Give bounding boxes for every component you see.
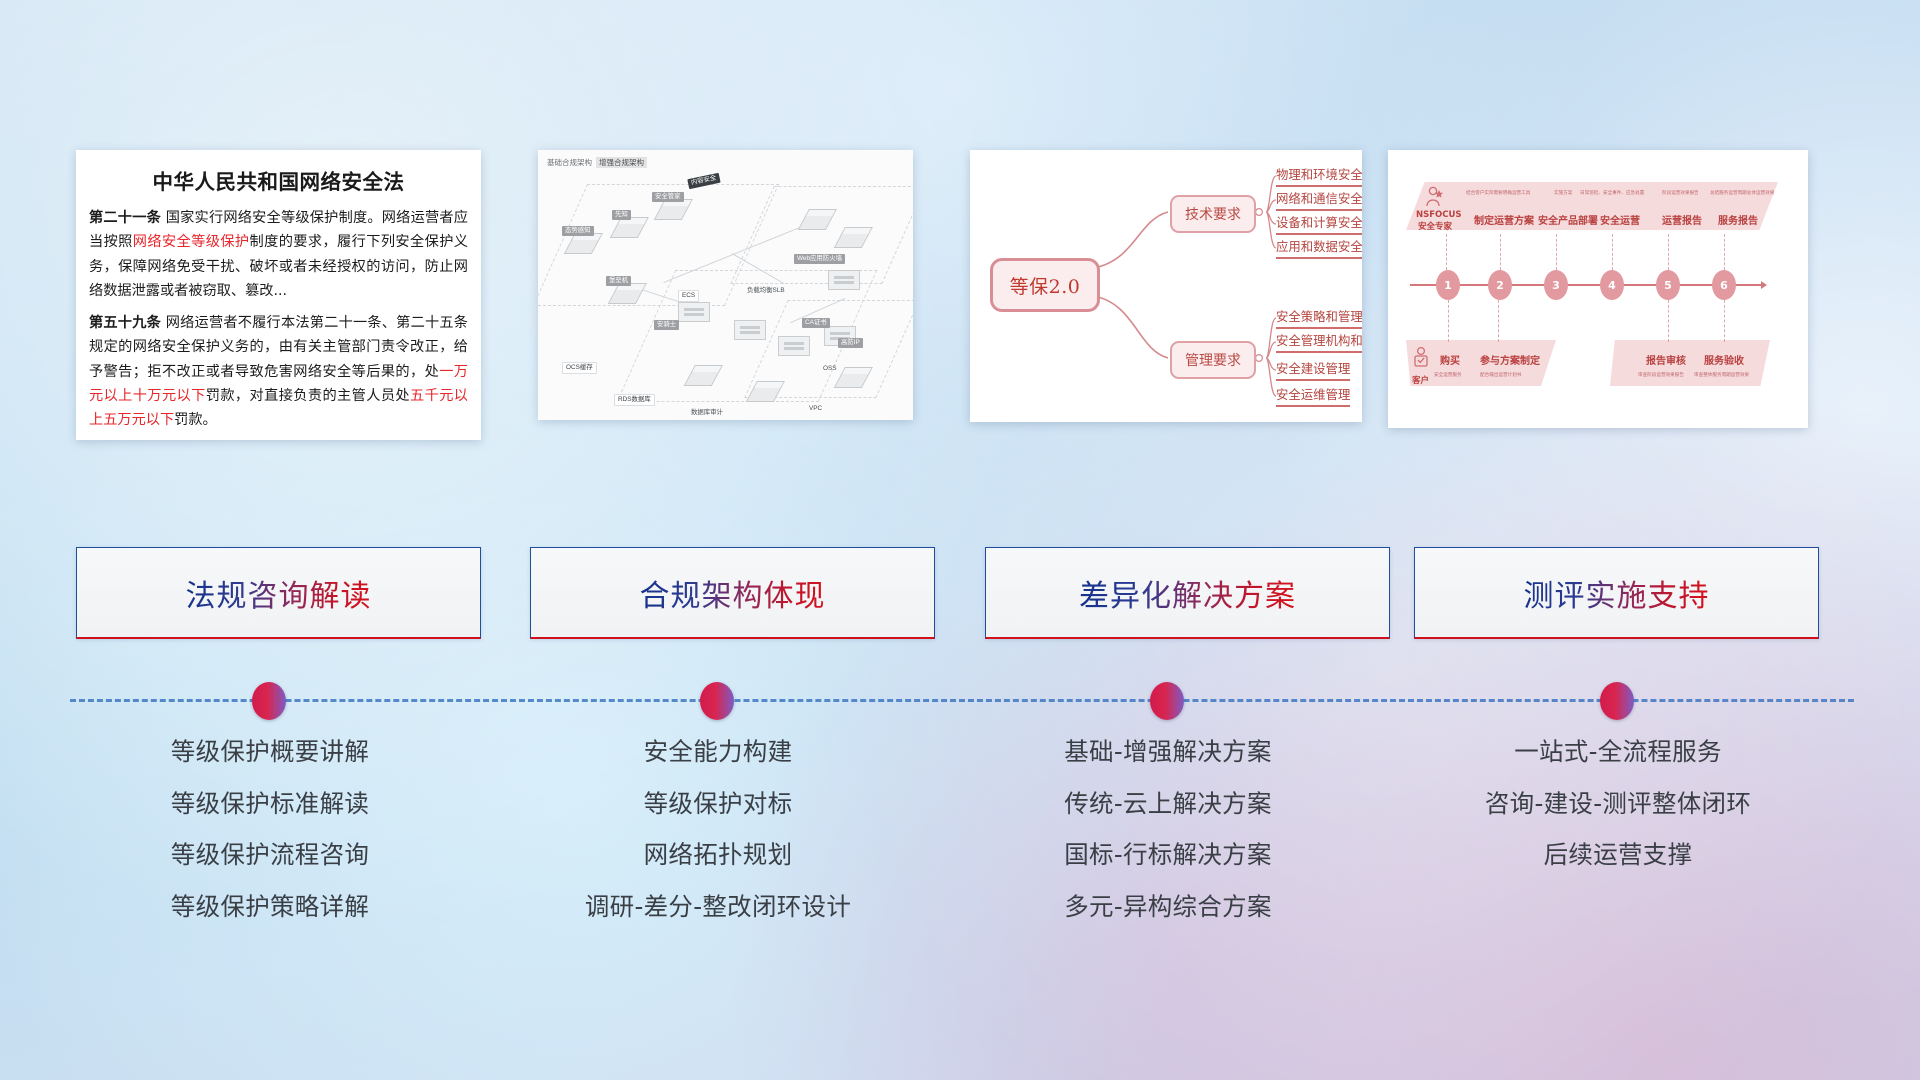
article-21-label: 第二十一条 xyxy=(89,210,161,226)
mindmap-leaf: 安全策略和管理制度 xyxy=(1276,307,1362,329)
timeline-step-4: 4 xyxy=(1600,270,1624,300)
top-step-title: 安全产品部署 xyxy=(1538,212,1598,227)
chip-ocs-cache: OCS缓存 xyxy=(562,362,597,374)
tab-basic-architecture[interactable]: 基础合规架构 xyxy=(547,158,592,167)
timeline-step-1: 1 xyxy=(1436,270,1460,300)
service-timeline: NSFOCUS 安全专家 结合客户实际需要明确运营工具 制定运营方案 实施方案 … xyxy=(1388,150,1808,428)
bottom-step-title: 购买 xyxy=(1440,352,1460,367)
column-compliance-architecture: 安全能力构建 等级保护对标 网络拓扑规划 调研-差分-整改闭环设计 xyxy=(503,740,933,946)
top-step-note: 结合客户实际需要明确运营工具 xyxy=(1466,190,1530,196)
heading-label: 合规架构体现 xyxy=(640,571,826,615)
heading-box-assessment-support[interactable]: 测评实施支持 xyxy=(1414,547,1819,639)
timeline-axis xyxy=(1410,284,1762,286)
mindmap-branch-management: 管理要求 xyxy=(1170,341,1256,379)
chip-situation-awareness: 态势感知 xyxy=(562,226,594,236)
mindmap-leaf: 应用和数据安全 xyxy=(1276,237,1362,259)
node-icon xyxy=(828,270,860,290)
expert-person-icon xyxy=(1424,186,1444,208)
timeline-dash xyxy=(1498,300,1499,342)
card-mindmap-mlps: 等保2.0 技术要求 管理要求 物理和环境安全 网络和通信安全 设备和计算安全 … xyxy=(970,150,1362,422)
chip-slb: 负载均衡SLB xyxy=(744,286,788,296)
heading-row: 法规咨询解读 合规架构体现 差异化解决方案 测评实施支持 xyxy=(0,547,1920,639)
card-compliance-architecture: 基础合规架构增强合规架构 xyxy=(538,150,913,420)
node-icon xyxy=(678,302,710,322)
chip-ecs: ECS xyxy=(678,290,699,302)
list-item: 基础-增强解决方案 xyxy=(953,740,1383,765)
timeline-dash xyxy=(1556,234,1557,270)
chip-anti-ddos-ip: 高防IP xyxy=(838,338,863,348)
expert-label-line1: NSFOCUS xyxy=(1416,210,1462,220)
bottom-step-note: 安全运营服务 xyxy=(1434,372,1462,378)
article-59-label: 第五十九条 xyxy=(89,315,161,331)
timeline-dash xyxy=(1500,234,1501,270)
customer-person-icon xyxy=(1412,346,1430,368)
chip-waf: Web应用防火墙 xyxy=(794,254,845,264)
chip-bastion-host: 堡垒机 xyxy=(606,276,631,286)
chip-foresight: 先知 xyxy=(612,210,631,220)
article-21-highlight: 网络安全等级保护 xyxy=(133,234,250,250)
axis-node-3 xyxy=(1150,682,1184,720)
tab-enhanced-architecture[interactable]: 增强合规架构 xyxy=(596,157,647,168)
law-article-59: 第五十九条 网络运营者不履行本法第二十一条、第二十五条规定的网络安全保护义务的，… xyxy=(89,311,468,433)
top-step-note: 实施方案 xyxy=(1554,190,1572,196)
list-item: 后续运营支撑 xyxy=(1403,843,1833,868)
top-step-title: 制定运营方案 xyxy=(1474,212,1534,227)
heading-label: 测评实施支持 xyxy=(1524,571,1710,615)
node-icon xyxy=(778,336,810,356)
axis-node-1 xyxy=(252,682,286,720)
card-strip: 中华人民共和国网络安全法 第二十一条 国家实行网络安全等级保护制度。网络运营者应… xyxy=(0,150,1920,450)
article-59-text-c: 罚款。 xyxy=(174,412,217,428)
expert-label-line2: 安全专家 xyxy=(1418,220,1452,232)
column-regulation-consulting: 等级保护概要讲解 等级保护标准解读 等级保护流程咨询 等级保护策略详解 xyxy=(55,740,485,946)
bottom-step-title: 服务验收 xyxy=(1704,352,1744,367)
column-assessment-support: 一站式-全流程服务 咨询-建设-测评整体闭环 后续运营支撑 xyxy=(1403,740,1833,895)
timeline-dash xyxy=(1448,300,1449,342)
timeline-step-2: 2 xyxy=(1488,270,1512,300)
heading-box-regulation-consulting[interactable]: 法规咨询解读 xyxy=(76,547,481,639)
law-document: 中华人民共和国网络安全法 第二十一条 国家实行网络安全等级保护制度。网络运营者应… xyxy=(76,150,481,440)
timeline-dash xyxy=(1446,234,1447,270)
list-item: 咨询-建设-测评整体闭环 xyxy=(1403,792,1833,817)
bottom-step-note: 审查整体服务周期运营效果 xyxy=(1694,372,1749,378)
law-title: 中华人民共和国网络安全法 xyxy=(89,165,468,195)
bottom-step-note: 配合输出运营计划书 xyxy=(1480,372,1521,378)
chip-security-housekeeper: 安全管家 xyxy=(652,192,684,202)
top-step-note: 日常巡检、安全事件、应急处置 xyxy=(1580,190,1644,196)
heading-label: 差异化解决方案 xyxy=(1079,571,1296,615)
top-step-title: 运营报告 xyxy=(1662,212,1702,227)
top-step-note: 总结服务运营周期总体运营效果 xyxy=(1710,190,1774,196)
heading-box-compliance-architecture[interactable]: 合规架构体现 xyxy=(530,547,935,639)
bottom-step-note: 审查阶段运营效果报告 xyxy=(1638,372,1684,378)
card-service-timeline: NSFOCUS 安全专家 结合客户实际需要明确运营工具 制定运营方案 实施方案 … xyxy=(1388,150,1808,428)
mindmap: 等保2.0 技术要求 管理要求 物理和环境安全 网络和通信安全 设备和计算安全 … xyxy=(970,150,1362,422)
timeline-dash xyxy=(1724,300,1725,342)
top-step-note: 阶段运营效果报告 xyxy=(1662,190,1699,196)
mindmap-leaf: 安全运维管理 xyxy=(1276,385,1350,407)
timeline-step-6: 6 xyxy=(1712,270,1736,300)
list-item: 调研-差分-整改闭环设计 xyxy=(503,895,933,920)
list-item: 等级保护对标 xyxy=(503,792,933,817)
architecture-tabs: 基础合规架构增强合规架构 xyxy=(547,157,647,168)
timeline-dash xyxy=(1668,300,1669,342)
mindmap-leaf: 安全建设管理 xyxy=(1276,359,1350,381)
list-item: 网络拓扑规划 xyxy=(503,843,933,868)
list-item: 安全能力构建 xyxy=(503,740,933,765)
chip-ca-certificate: CA证书 xyxy=(802,318,830,328)
chip-oss: OSS xyxy=(820,364,840,374)
bottom-step-title: 报告审核 xyxy=(1646,352,1686,367)
timeline-step-5: 5 xyxy=(1656,270,1680,300)
article-59-text-b: 罚款，对直接负责的主管人员处 xyxy=(206,388,410,404)
detail-columns: 等级保护概要讲解 等级保护标准解读 等级保护流程咨询 等级保护策略详解 安全能力… xyxy=(0,740,1920,980)
list-item: 等级保护流程咨询 xyxy=(55,843,485,868)
dashed-axis-line xyxy=(70,699,1854,702)
mindmap-branch-technical: 技术要求 xyxy=(1170,195,1256,233)
heading-label: 法规咨询解读 xyxy=(186,571,372,615)
customer-label: 客户 xyxy=(1412,374,1429,386)
axis-node-4 xyxy=(1600,682,1634,720)
progress-axis-row xyxy=(0,682,1920,722)
mindmap-leaf: 安全管理机构和人员 xyxy=(1276,331,1362,353)
mindmap-root: 等保2.0 xyxy=(990,258,1100,312)
column-differentiated-solution: 基础-增强解决方案 传统-云上解决方案 国标-行标解决方案 多元-异构综合方案 xyxy=(953,740,1383,946)
chip-vpc: VPC xyxy=(806,404,825,414)
heading-box-differentiated-solution[interactable]: 差异化解决方案 xyxy=(985,547,1390,639)
mindmap-leaf: 设备和计算安全 xyxy=(1276,213,1362,235)
list-item: 传统-云上解决方案 xyxy=(953,792,1383,817)
top-step-title: 服务报告 xyxy=(1718,212,1758,227)
mindmap-leaf: 物理和环境安全 xyxy=(1276,165,1362,187)
bottom-step-title: 参与方案制定 xyxy=(1480,352,1540,367)
chip-security-agent: 安骑士 xyxy=(654,320,679,330)
timeline-dash xyxy=(1612,234,1613,270)
chip-rds-database: RDS数据库 xyxy=(614,394,655,406)
chip-db-audit: 数据库审计 xyxy=(688,408,726,418)
node-icon xyxy=(734,320,766,340)
timeline-band-customer-right xyxy=(1610,340,1770,386)
list-item: 等级保护策略详解 xyxy=(55,895,485,920)
timeline-dash xyxy=(1724,234,1725,270)
card-cybersecurity-law: 中华人民共和国网络安全法 第二十一条 国家实行网络安全等级保护制度。网络运营者应… xyxy=(76,150,481,440)
architecture-diagram: 基础合规架构增强合规架构 xyxy=(538,150,913,420)
list-item: 国标-行标解决方案 xyxy=(953,843,1383,868)
list-item: 等级保护概要讲解 xyxy=(55,740,485,765)
list-item: 一站式-全流程服务 xyxy=(1403,740,1833,765)
law-article-21: 第二十一条 国家实行网络安全等级保护制度。网络运营者应当按照网络安全等级保护制度… xyxy=(89,206,468,304)
timeline-step-3: 3 xyxy=(1544,270,1568,300)
mindmap-leaf: 网络和通信安全 xyxy=(1276,189,1362,211)
list-item: 多元-异构综合方案 xyxy=(953,895,1383,920)
top-step-title: 安全运营 xyxy=(1600,212,1640,227)
axis-node-2 xyxy=(700,682,734,720)
timeline-dash xyxy=(1668,234,1669,270)
list-item: 等级保护标准解读 xyxy=(55,792,485,817)
